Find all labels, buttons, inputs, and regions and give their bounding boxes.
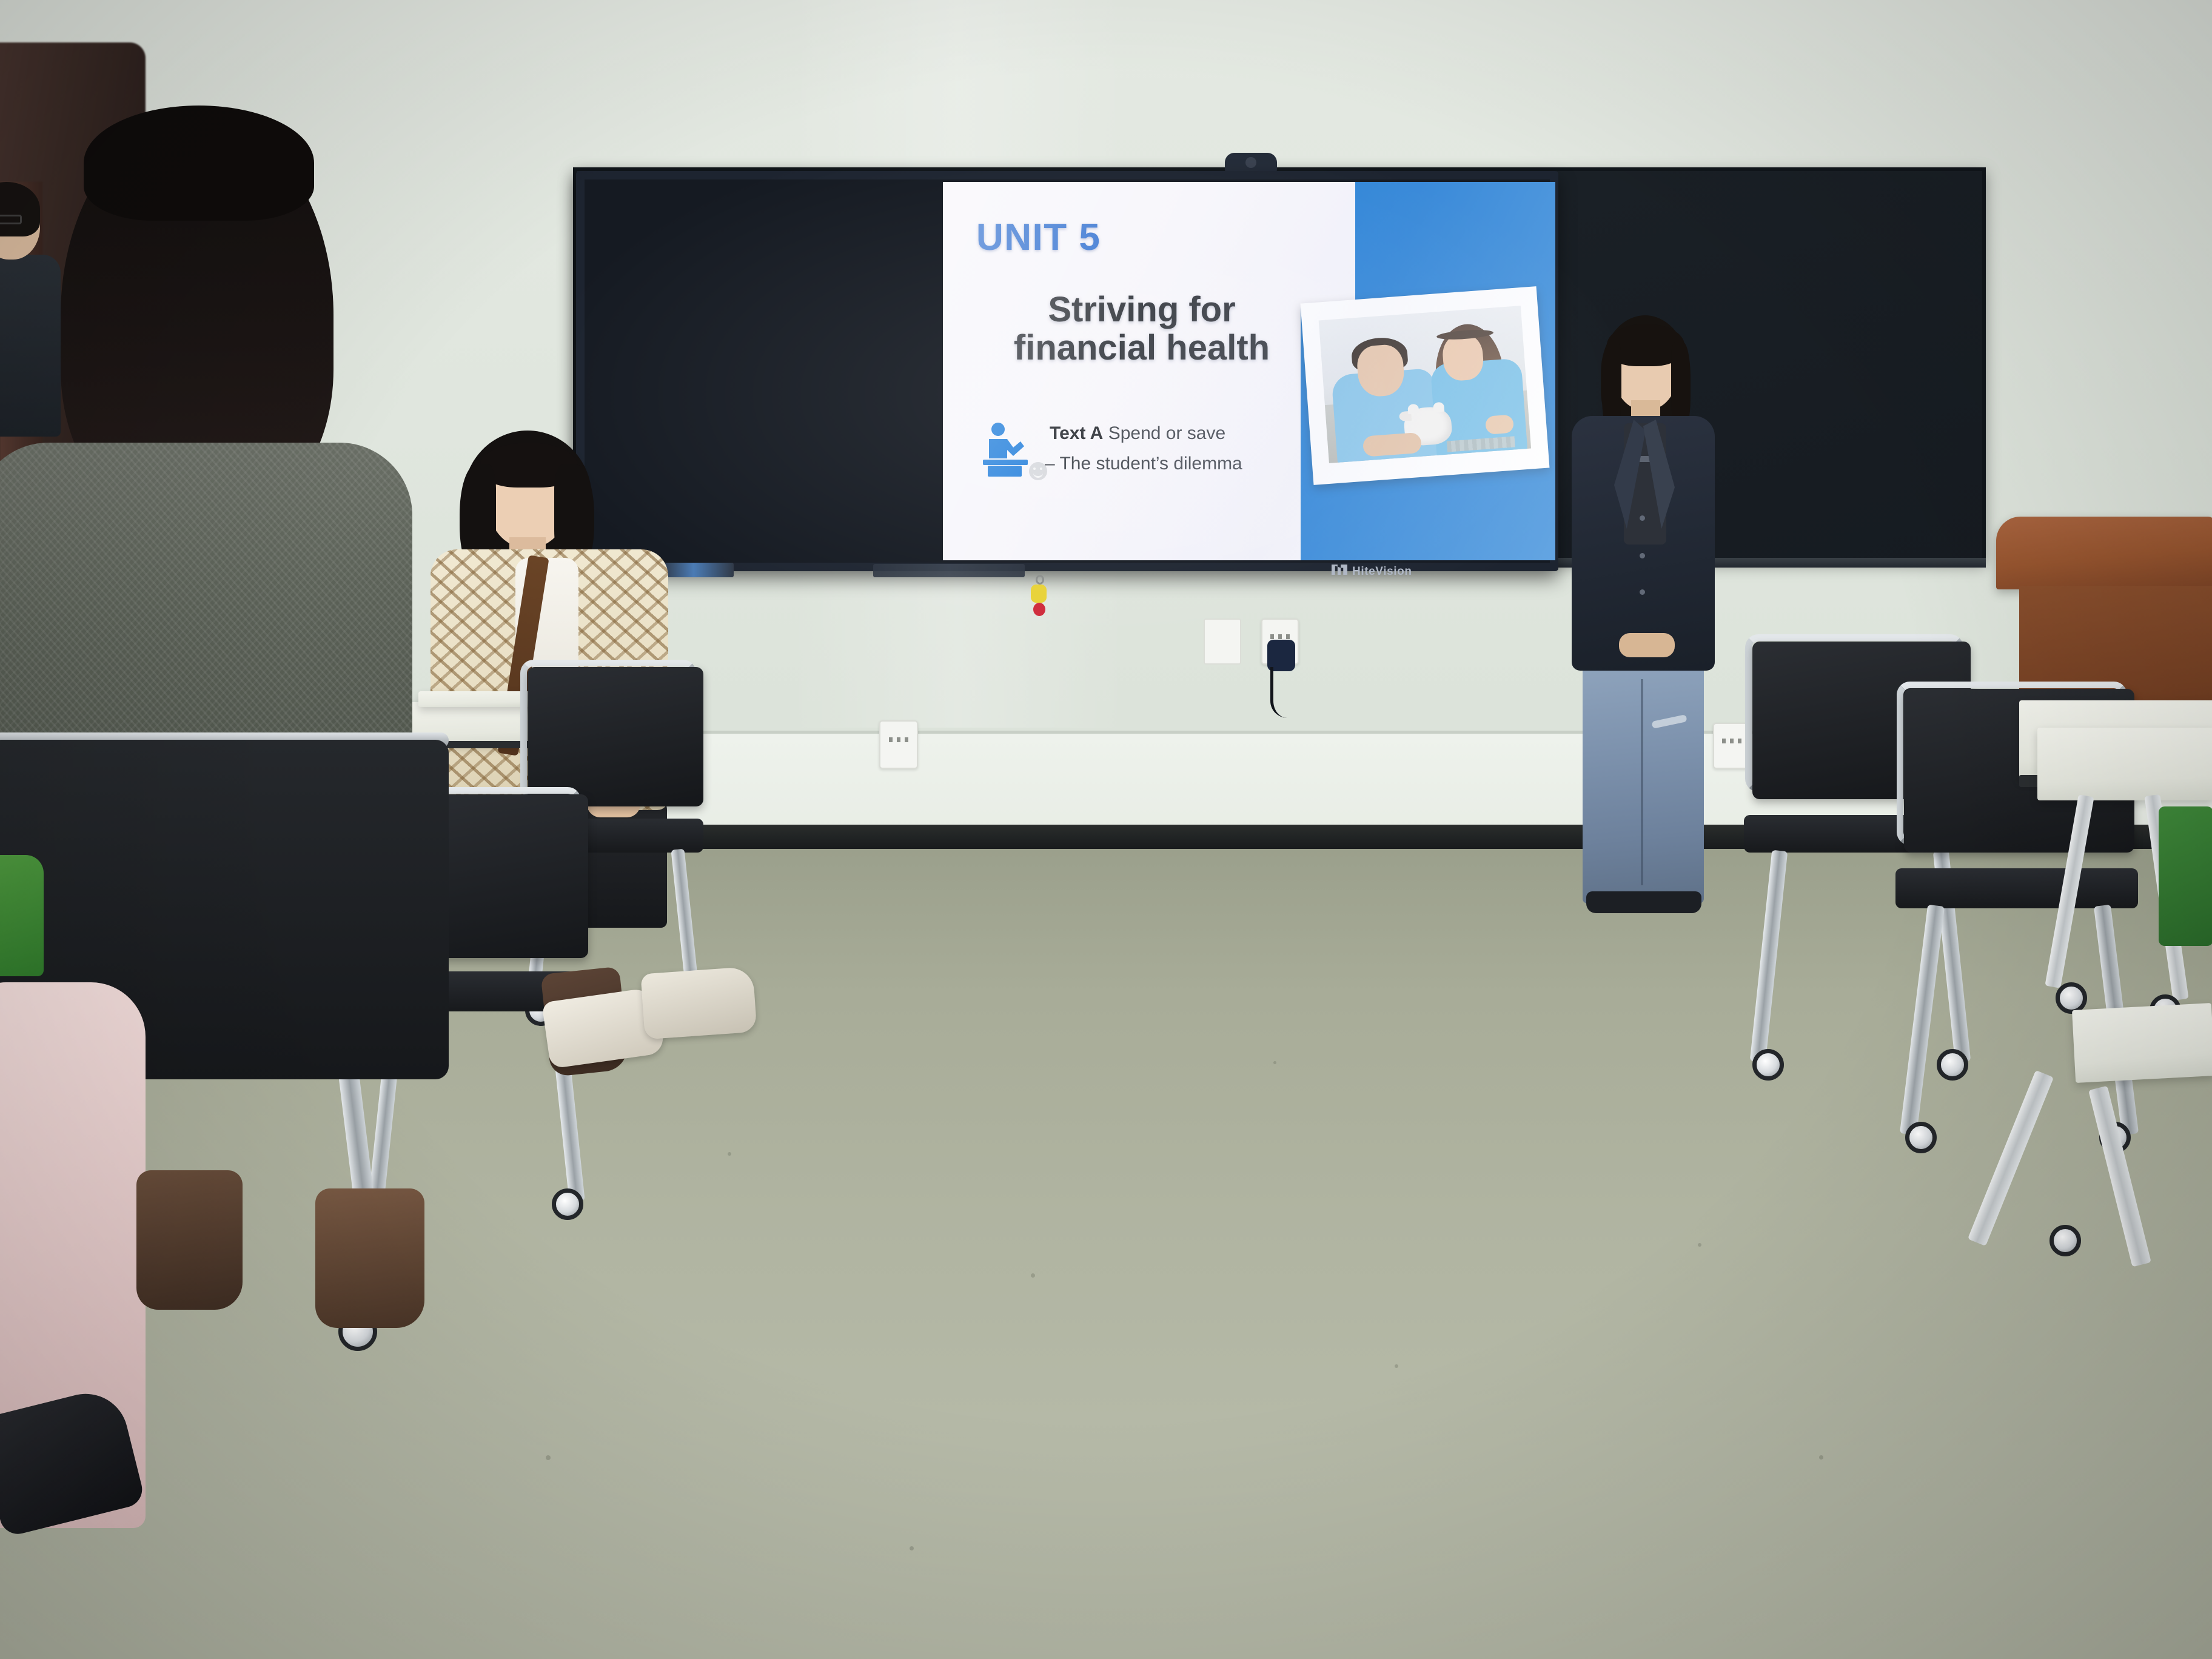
presenter-jeans: [1583, 661, 1704, 903]
slide-title-line2: financial health: [972, 329, 1312, 367]
brown-boot: [315, 1188, 424, 1328]
folding-table-top: [2037, 728, 2212, 800]
keychain-ring-icon: [1036, 575, 1044, 585]
sneaker: [640, 967, 757, 1040]
eyeglasses-icon: [0, 215, 22, 224]
presenter-button: [1640, 515, 1645, 521]
folding-table-top: [2072, 1003, 2212, 1083]
paper-on-table: [418, 691, 534, 707]
slide-photo: [1301, 286, 1550, 485]
chair-caster: [552, 1188, 583, 1220]
floor-speck: [728, 1152, 731, 1156]
chair-seat: [1895, 868, 2138, 908]
keychain-yellow-charm: [1031, 585, 1047, 603]
chair-caster: [1752, 1049, 1784, 1081]
presenter-button: [1640, 589, 1645, 595]
presenter-hands: [1619, 633, 1675, 657]
keychain: [1031, 575, 1047, 620]
far-attendee-body: [0, 255, 61, 437]
slide-bullet-text: Spend or save: [1108, 423, 1225, 443]
presenter-button: [1640, 553, 1645, 558]
keychain-red-charm: [1033, 603, 1045, 616]
display-brand-label: HiteVision: [1352, 565, 1412, 578]
light-switch[interactable]: [1204, 618, 1241, 665]
floor-speck: [1395, 1364, 1398, 1368]
speaker-at-podium-icon: [982, 422, 1029, 478]
webcam-icon: [1225, 153, 1277, 172]
slide-photo-image: [1319, 306, 1531, 463]
seated-attendee-far-left: [0, 182, 67, 437]
slide-bullet-line1: Text A Spend or save: [1050, 423, 1225, 444]
chair-caster: [1905, 1122, 1937, 1153]
far-attendee-hair: [0, 182, 40, 236]
podium-top: [1996, 517, 2212, 589]
slide-bullet-label: Text A: [1050, 423, 1103, 443]
table-caster: [2049, 1225, 2081, 1256]
foreground-attendee-hair-top: [84, 106, 314, 221]
slide-screen[interactable]: UNIT 5 Striving for financial health Tex…: [943, 182, 1555, 560]
floor-speck: [1819, 1455, 1823, 1460]
slide-title: Striving for financial health: [972, 291, 1312, 367]
floor-speck: [546, 1455, 551, 1460]
brown-boot: [136, 1170, 243, 1310]
seated-attendee-bottom-left: [0, 982, 164, 1659]
display-port-panel: [873, 564, 1025, 577]
chair-leg: [1750, 850, 1788, 1063]
floor-speck: [1031, 1273, 1035, 1278]
presenter: [1551, 315, 1733, 916]
slide-title-line1: Striving for: [972, 291, 1312, 329]
green-panel: [2159, 806, 2212, 946]
slide-bullet-line2: – The student’s dilemma: [1045, 454, 1242, 474]
floor-speck: [1273, 1061, 1276, 1064]
photo-man-hands: [1362, 432, 1422, 457]
presenter-shoes: [1586, 891, 1701, 913]
floor-speck: [1698, 1243, 1701, 1247]
power-cable: [1270, 667, 1304, 718]
presenter-jeans-seam: [1641, 679, 1643, 885]
slide-unit-label: UNIT 5: [976, 216, 1101, 259]
green-bag: [0, 855, 44, 976]
photo-piggy-ears: [1407, 404, 1419, 414]
classroom-photo: HiteVision UNIT 5 Striving for financial…: [0, 0, 2212, 1659]
wall-socket[interactable]: [879, 720, 918, 769]
floor-speck: [910, 1546, 914, 1550]
chair-back: [528, 667, 703, 806]
chair-leg: [1900, 905, 1945, 1136]
